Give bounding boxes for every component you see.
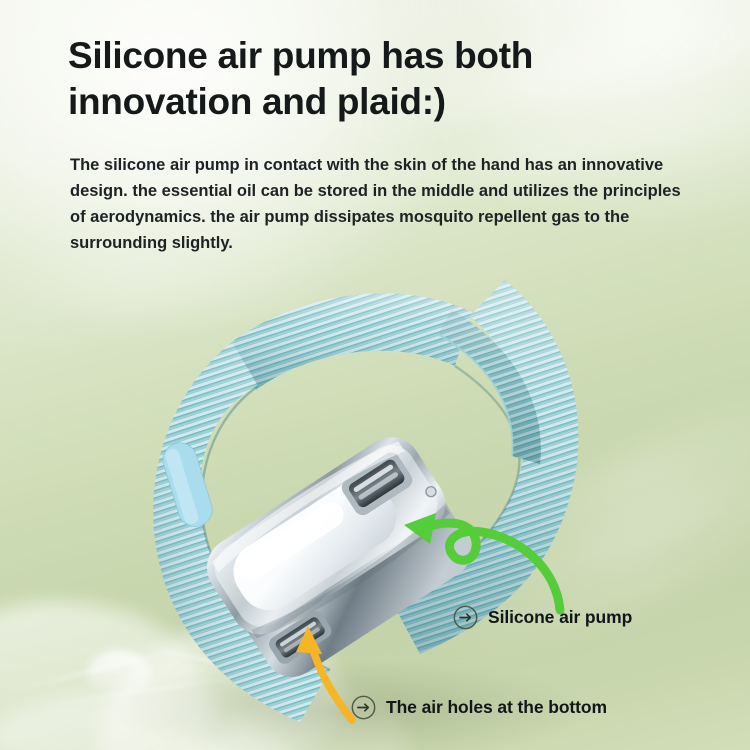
- arrow-right-circle-icon: [350, 694, 377, 721]
- product-image-bracelet: [0, 250, 750, 750]
- body-paragraph: The silicone air pump in contact with th…: [70, 152, 690, 256]
- callout-silicone-air-pump: Silicone air pump: [452, 604, 632, 631]
- product-feature-banner: Silicone air pump has both innovation an…: [0, 0, 750, 750]
- callout-label: The air holes at the bottom: [386, 697, 607, 718]
- page-title: Silicone air pump has both innovation an…: [68, 33, 678, 125]
- callout-label: Silicone air pump: [488, 607, 632, 628]
- callout-air-holes: The air holes at the bottom: [350, 694, 607, 721]
- arrow-right-circle-icon: [452, 604, 479, 631]
